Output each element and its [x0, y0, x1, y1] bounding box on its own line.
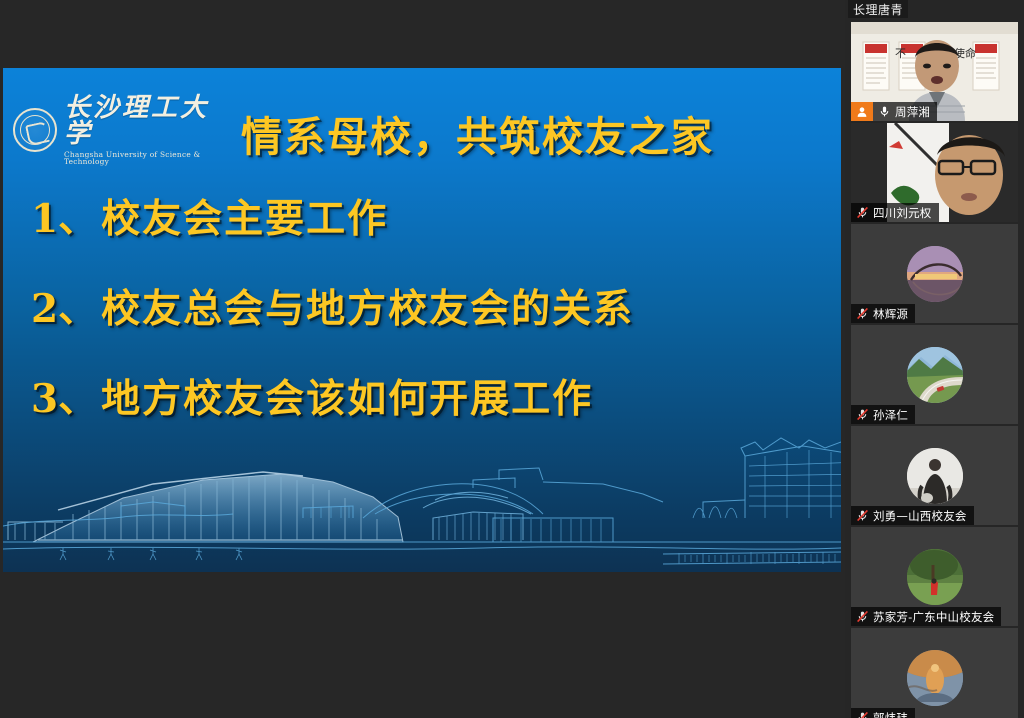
participant-name: 林辉源	[873, 306, 908, 322]
avatar-art	[907, 650, 963, 706]
bullet-text: 地方校友会该如何开展工作	[101, 368, 593, 424]
mic-muted-icon	[856, 206, 869, 219]
participant-tile[interactable]: 郭炜玮	[851, 628, 1018, 718]
list-item: 3、 地方校友会该如何开展工作	[31, 368, 821, 424]
avatar	[907, 347, 963, 403]
avatar-art	[907, 347, 963, 403]
participant-namebar: 苏家芳-广东中山校友会	[851, 607, 1001, 626]
person-icon	[851, 102, 873, 121]
participant-name: 四川刘元权	[873, 205, 932, 221]
participant-sidebar[interactable]: 长理唐青	[845, 0, 1024, 718]
participant-namebar: 林辉源	[851, 304, 915, 323]
participant-name: 苏家芳-广东中山校友会	[873, 609, 994, 625]
avatar-art	[907, 448, 963, 504]
self-name-label: 长理唐青	[848, 0, 908, 18]
bullet-number: 1、	[31, 188, 97, 244]
mic-muted-icon	[856, 408, 869, 421]
avatar	[907, 246, 963, 302]
participant-namebar: 孙泽仁	[851, 405, 915, 424]
person-glyph	[856, 106, 868, 118]
participant-namebar: 郭炜玮	[851, 708, 915, 718]
participant-tile-list[interactable]: 记使命 不	[845, 22, 1024, 718]
bullet-number: 3、	[31, 368, 97, 424]
participant-tile-active-speaker[interactable]: 记使命 不	[851, 22, 1018, 121]
slide-title: 情系母校，共筑校友之家	[241, 103, 714, 163]
participant-name: 郭炜玮	[873, 710, 908, 718]
mic-unmuted-icon	[878, 105, 891, 118]
participant-tile[interactable]: 刘勇—山西校友会	[851, 426, 1018, 525]
campus-skyline-illustration	[3, 422, 841, 572]
university-seal-icon	[13, 108, 57, 152]
participant-tile[interactable]: 林辉源	[851, 224, 1018, 323]
university-logo: 长沙理工大学 Changsha University of Science & …	[13, 101, 225, 159]
avatar	[907, 448, 963, 504]
avatar-art	[907, 246, 963, 302]
participant-namebar: 周萍湘	[873, 102, 937, 121]
mic-muted-icon	[856, 610, 869, 623]
svg-text:不: 不	[895, 47, 906, 60]
logo-chinese-name: 长沙理工大学	[64, 95, 225, 147]
screen-share-stage: 长沙理工大学 Changsha University of Science & …	[0, 0, 845, 718]
participant-namebar: 刘勇—山西校友会	[851, 506, 974, 525]
list-item: 1、 校友会主要工作	[31, 188, 821, 244]
logo-english-name: Changsha University of Science & Technol…	[64, 151, 225, 166]
bullet-text: 校友会主要工作	[101, 188, 388, 244]
mic-muted-icon	[856, 711, 869, 718]
avatar	[907, 549, 963, 605]
participant-name: 刘勇—山西校友会	[873, 508, 967, 524]
participant-tile[interactable]: 孙泽仁	[851, 325, 1018, 424]
presentation-slide: 长沙理工大学 Changsha University of Science & …	[3, 68, 841, 572]
participant-name: 周萍湘	[895, 104, 930, 120]
participant-namebar: 四川刘元权	[851, 203, 939, 222]
list-item: 2、 校友总会与地方校友会的关系	[31, 278, 821, 334]
participant-name: 孙泽仁	[873, 407, 908, 423]
slide-bullet-list: 1、 校友会主要工作 2、 校友总会与地方校友会的关系 3、 地方校友会该如何开…	[31, 188, 821, 458]
mic-muted-icon	[856, 307, 869, 320]
bullet-number: 2、	[31, 278, 97, 334]
logo-text: 长沙理工大学 Changsha University of Science & …	[64, 95, 225, 166]
avatar-art	[907, 549, 963, 605]
bullet-text: 校友总会与地方校友会的关系	[101, 278, 634, 334]
participant-tile[interactable]: 四川刘元权	[851, 123, 1018, 222]
avatar	[907, 650, 963, 706]
participant-tile[interactable]: 苏家芳-广东中山校友会	[851, 527, 1018, 626]
mic-muted-icon	[856, 509, 869, 522]
